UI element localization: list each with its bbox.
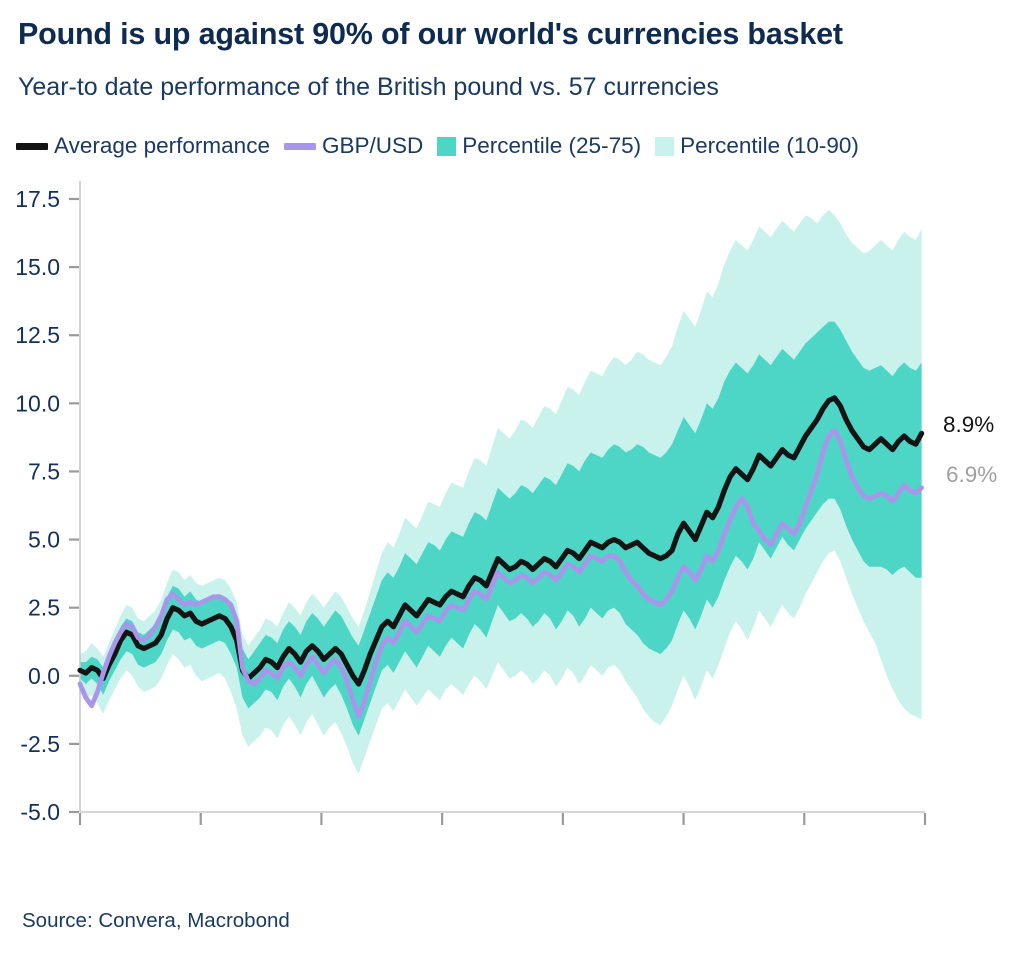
gbpusd-end-label: 6.9% [946, 462, 997, 488]
legend-item-0[interactable]: Average performance [16, 135, 270, 158]
y-tick-label: 7.5 [28, 458, 60, 484]
legend-swatch-box-icon [655, 137, 674, 156]
legend-label-2: Percentile (25-75) [462, 135, 641, 158]
y-tick-label: 5.0 [28, 527, 60, 553]
y-tick-label: 10.0 [15, 390, 60, 416]
legend-item-2[interactable]: Percentile (25-75) [437, 135, 641, 158]
legend-item-3[interactable]: Percentile (10-90) [655, 135, 859, 158]
chart-svg: 17.515.012.510.07.55.02.50.0-2.5-5.0JanF… [0, 175, 1024, 835]
chart-legend: Average performanceGBP/USDPercentile (25… [16, 129, 873, 163]
page-title: Pound is up against 90% of our world's c… [18, 18, 1008, 52]
legend-item-1[interactable]: GBP/USD [284, 135, 423, 158]
y-tick-label: 17.5 [15, 186, 60, 212]
legend-label-0: Average performance [54, 135, 270, 158]
legend-swatch-line-icon [16, 143, 48, 150]
y-tick-label: 15.0 [15, 254, 60, 280]
plot-area: 17.515.012.510.07.55.02.50.0-2.5-5.0JanF… [0, 175, 1024, 835]
source-note: Source: Convera, Macrobond [22, 909, 290, 933]
y-tick-label: -5.0 [20, 799, 60, 825]
legend-label-1: GBP/USD [322, 135, 423, 158]
legend-label-3: Percentile (10-90) [680, 135, 859, 158]
legend-swatch-box-icon [437, 137, 456, 156]
page-subtitle: Year-to date performance of the British … [18, 74, 1008, 102]
legend-swatch-line-icon [284, 143, 316, 150]
chart-page: Pound is up against 90% of our world's c… [0, 0, 1024, 958]
y-tick-label: 0.0 [28, 663, 60, 689]
average-end-label: 8.9% [943, 412, 994, 438]
y-tick-label: 2.5 [28, 595, 60, 621]
y-tick-label: 12.5 [15, 322, 60, 348]
y-tick-label: -2.5 [20, 731, 60, 757]
